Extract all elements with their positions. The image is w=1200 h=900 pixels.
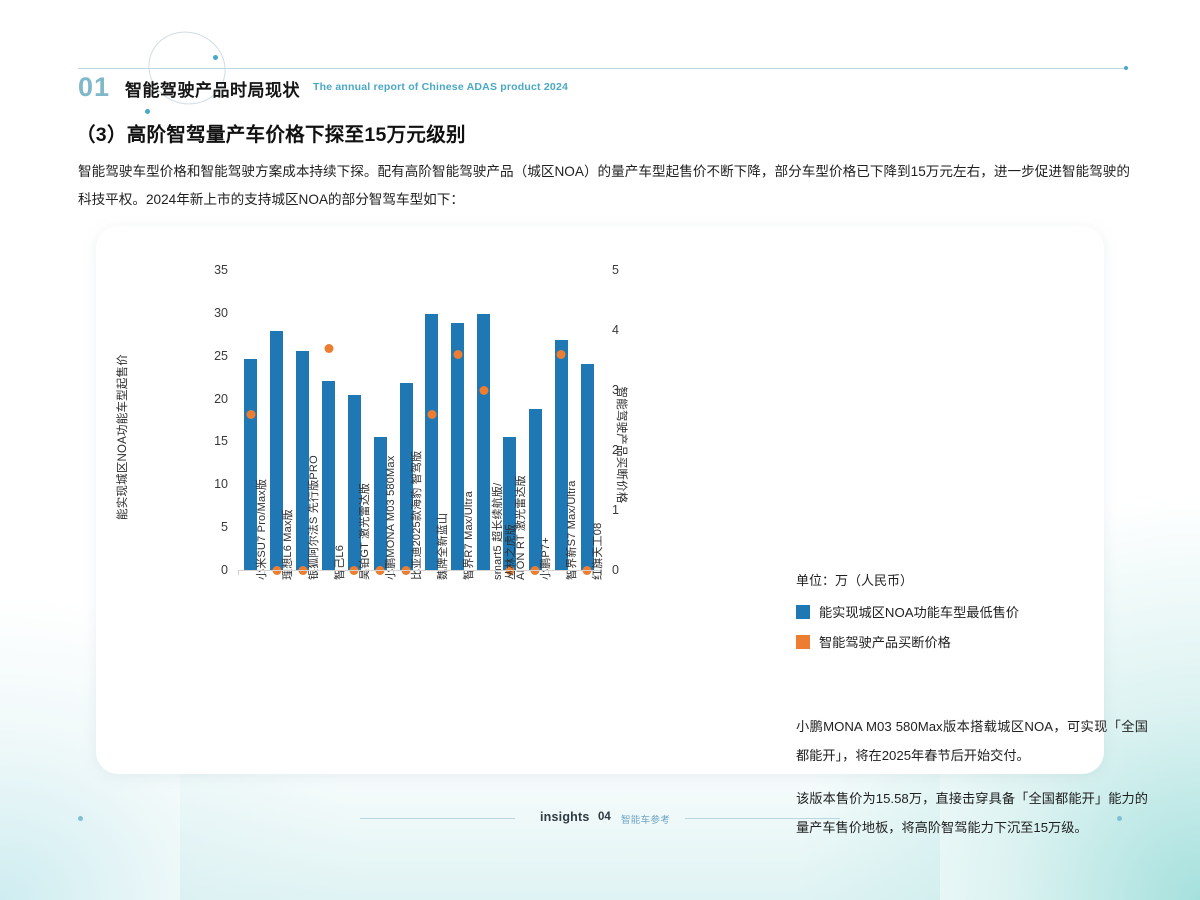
y-axis-tick-left: 5 (194, 520, 228, 534)
chart-dot (453, 350, 462, 359)
y-axis-tick-right: 2 (612, 443, 642, 457)
x-axis-label: 小鹏P7+ (540, 537, 553, 580)
decorative-dot-icon (213, 55, 218, 60)
chart-dot (324, 344, 333, 353)
chart-bar (477, 314, 490, 570)
x-axis-label: smart5 超长续航版/丛林之虎版 (492, 460, 518, 580)
x-axis-label: 小鹏MONA M03 580Max (385, 456, 398, 580)
chart-dot (557, 350, 566, 359)
legend-item: 能实现城区NOA功能车型最低售价 (796, 602, 1019, 621)
footer-divider-left (360, 818, 515, 819)
page-header: 01 智能驾驶产品时局现状 The annual report of Chine… (78, 68, 1128, 110)
chart-bar (322, 381, 335, 570)
y-axis-tick-left: 10 (194, 477, 228, 491)
footer-page-number: 04 (598, 811, 611, 823)
intro-paragraph: 智能驾驶车型价格和智能驾驶方案成本持续下探。配有高阶智能驾驶产品（城区NOA）的… (78, 158, 1130, 214)
y-axis-tick-left: 35 (194, 263, 228, 277)
y-axis-tick-right: 1 (612, 503, 642, 517)
footer-brand-label: 智能车参考 (621, 812, 670, 826)
chart-dot (427, 410, 436, 419)
header-title-en: The annual report of Chinese ADAS produc… (313, 81, 568, 93)
chart-legend: 能实现城区NOA功能车型最低售价智能驾驶产品买断价格 (796, 602, 1019, 662)
note-paragraph-1: 小鹏MONA M03 580Max版本搭载城区NOA，可实现「全国都能开」，将在… (796, 712, 1148, 770)
y-axis-tick-left: 0 (194, 563, 228, 577)
y-axis-label-left: 能实现城区NOA功能车型起售价 (114, 322, 130, 552)
chart-unit-note: 单位：万（人民币） (796, 570, 913, 589)
x-axis-line (238, 570, 600, 571)
y-axis-tick-left: 30 (194, 306, 228, 320)
chart-dot (246, 410, 255, 419)
header-section-number: 01 (78, 72, 110, 103)
chart-plot-area: 能实现城区NOA功能车型起售价 智能驾驶产品买断价格 0510152025303… (96, 226, 1104, 774)
x-axis-label: 昊铂GT 激光雷达版 (359, 483, 372, 580)
legend-label: 能实现城区NOA功能车型最低售价 (819, 602, 1019, 621)
section-title: （3）高阶智驾量产车价格下探至15万元级别 (76, 118, 466, 147)
x-axis-label: 智界R7 Max/Ultra (463, 491, 476, 580)
x-axis-label: 比亚迪2025款海豹 智驾版 (411, 451, 424, 580)
x-axis-label: AION RT 激光雷达版 (515, 475, 528, 580)
legend-swatch-bar-icon (796, 605, 810, 619)
x-axis-label: 红旗天工08 (592, 523, 605, 580)
legend-swatch-dot-icon (796, 635, 810, 649)
y-axis-tick-left: 15 (194, 434, 228, 448)
y-axis-tick-right: 0 (612, 563, 642, 577)
chart-dot (479, 386, 488, 395)
y-axis-tick-right: 5 (612, 263, 642, 277)
legend-item: 智能驾驶产品买断价格 (796, 632, 1019, 651)
y-axis-tick-right: 3 (612, 383, 642, 397)
y-axis-tick-left: 20 (194, 392, 228, 406)
footer-dot-right-icon (1117, 816, 1122, 821)
header-title-cn: 智能驾驶产品时局现状 (125, 76, 300, 101)
legend-label: 智能驾驶产品买断价格 (819, 632, 951, 651)
x-axis-label-line: smart5 超长续航版/ (492, 460, 505, 580)
page-footer: insights 04 智能车参考 (0, 808, 1200, 828)
x-axis-label: 智界新S7 Max/Ultra (566, 480, 579, 580)
chart-card: 能实现城区NOA功能车型起售价 智能驾驶产品买断价格 0510152025303… (96, 226, 1104, 774)
x-axis-label: 智己L6 (334, 545, 347, 580)
footer-divider-right (685, 818, 840, 819)
y-axis-tick-right: 4 (612, 323, 642, 337)
footer-insights-label: insights (540, 810, 590, 824)
x-axis-label: 银狐阿尔法S 先行版PRO (308, 455, 321, 580)
x-axis-label: 小米SU7 Pro/Max版 (256, 479, 269, 580)
header-divider (78, 68, 1125, 69)
y-axis-tick-left: 25 (194, 349, 228, 363)
footer-dot-left-icon (78, 816, 83, 821)
header-end-dot-icon (1124, 66, 1128, 70)
